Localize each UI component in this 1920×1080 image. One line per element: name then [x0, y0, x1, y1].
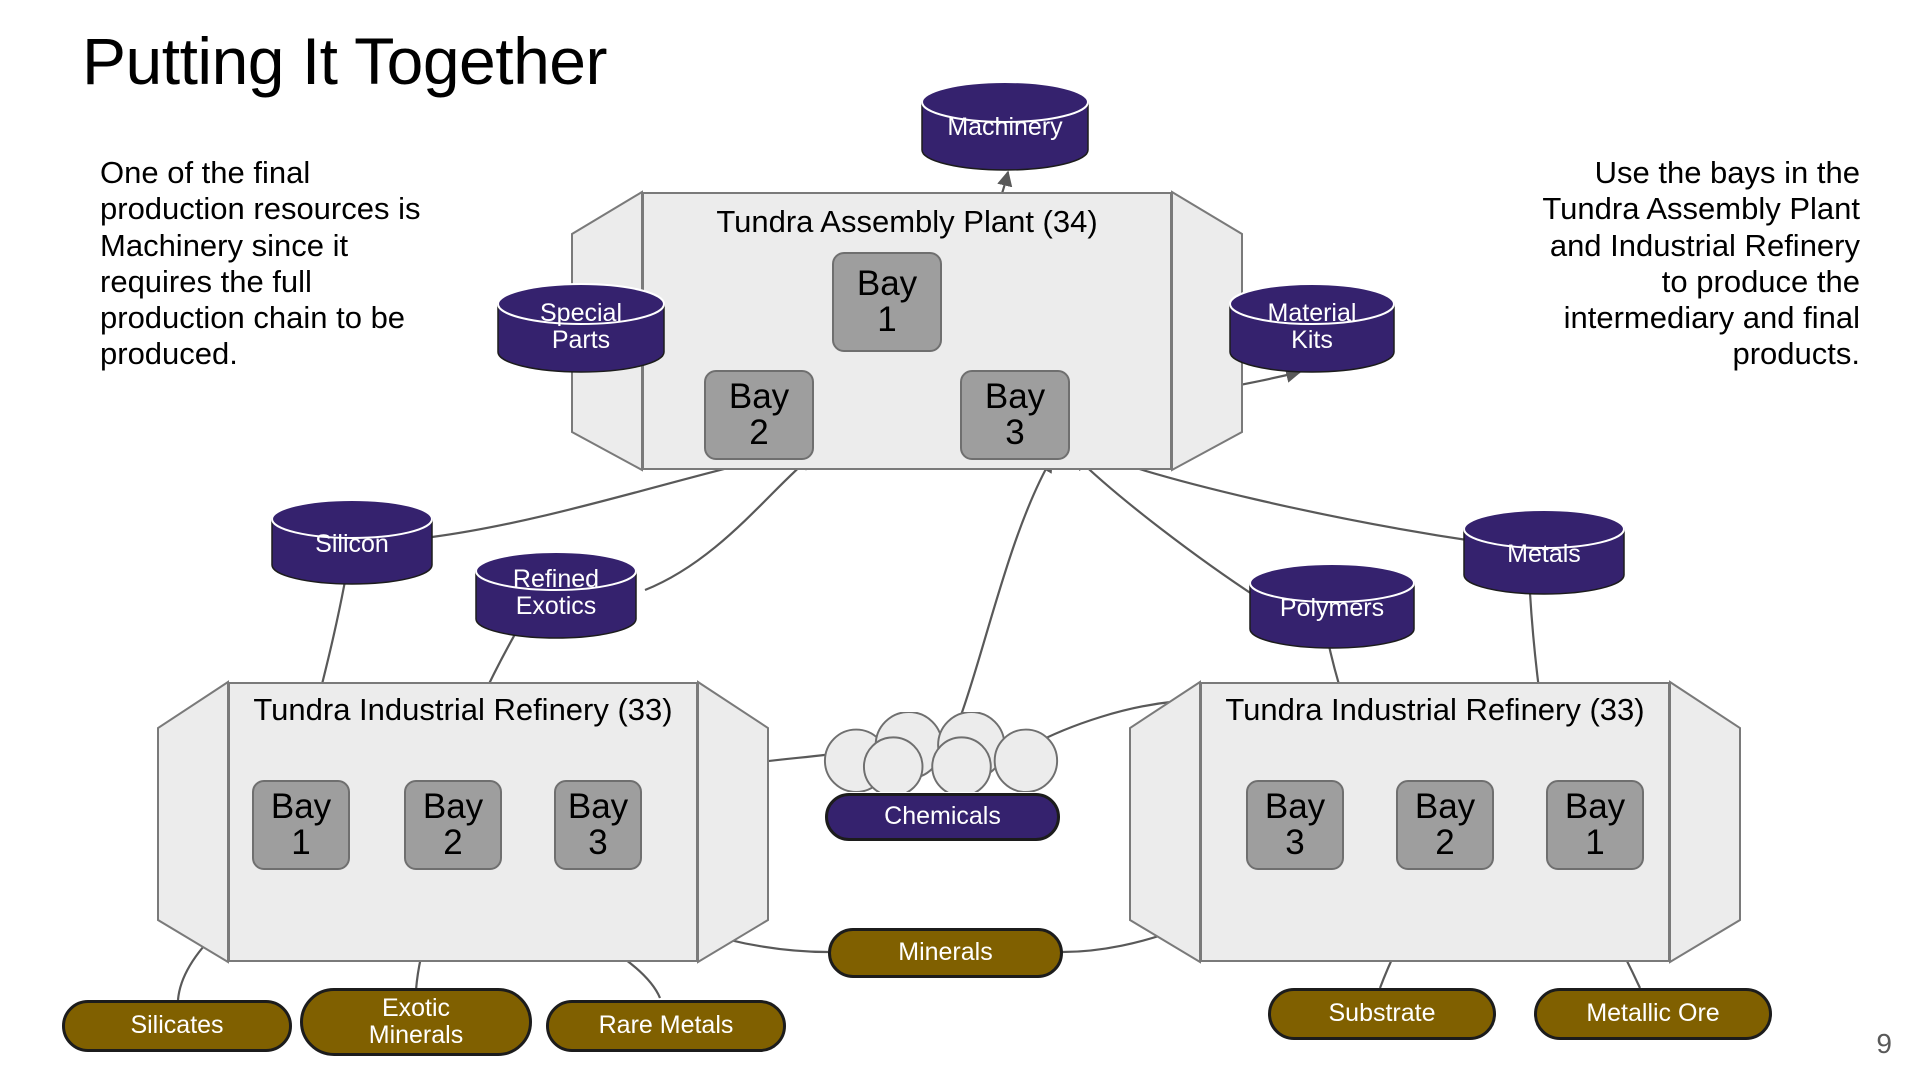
resource-label-line2: Kits: [1228, 327, 1396, 354]
raw-exotic-minerals[interactable]: Exotic Minerals: [300, 988, 532, 1056]
resource-label-line1: Refined: [474, 566, 638, 593]
bay-label-line1: Bay: [1565, 789, 1625, 825]
resource-silicon[interactable]: Silicon: [270, 498, 434, 586]
bay-label-line2: 3: [1285, 825, 1304, 861]
gas-cloud-icon: [812, 712, 1072, 792]
raw-metallic-ore[interactable]: Metallic Ore: [1534, 988, 1772, 1040]
assembly-plant-bay-3[interactable]: Bay 3: [960, 370, 1070, 460]
resource-label: Metals: [1462, 541, 1626, 568]
resource-special-parts[interactable]: Special Parts: [496, 282, 666, 374]
bay-label-line2: 1: [1585, 825, 1604, 861]
bay-label-line1: Bay: [857, 266, 917, 302]
refinery-right-bay-3[interactable]: Bay 3: [1246, 780, 1344, 870]
refinery-right-bay-2[interactable]: Bay 2: [1396, 780, 1494, 870]
bay-label-line1: Bay: [985, 379, 1045, 415]
resource-refined-exotics[interactable]: Refined Exotics: [474, 550, 638, 640]
bay-label-line1: Bay: [423, 789, 483, 825]
resource-label: Polymers: [1248, 595, 1416, 622]
resource-label: Machinery: [920, 114, 1090, 141]
assembly-plant-bay-2[interactable]: Bay 2: [704, 370, 814, 460]
bay-label-line1: Bay: [729, 379, 789, 415]
bay-label-line1: Bay: [568, 789, 628, 825]
bay-label-line1: Bay: [1415, 789, 1475, 825]
bay-label-line2: 1: [877, 302, 896, 338]
raw-label-line2: Minerals: [369, 1022, 463, 1050]
resource-chemicals[interactable]: Chemicals: [825, 793, 1060, 841]
resource-material-kits[interactable]: Material Kits: [1228, 282, 1396, 374]
bay-label-line2: 3: [1005, 415, 1024, 451]
bay-label-line2: 2: [749, 415, 768, 451]
resource-label-line2: Parts: [496, 327, 666, 354]
refinery-right-title: Tundra Industrial Refinery (33): [1200, 692, 1670, 728]
resource-metals[interactable]: Metals: [1462, 508, 1626, 596]
assembly-plant-bay-1[interactable]: Bay 1: [832, 252, 942, 352]
bay-label-line1: Bay: [271, 789, 331, 825]
raw-label-line1: Exotic: [382, 995, 450, 1023]
raw-minerals[interactable]: Minerals: [828, 928, 1063, 978]
resource-label: Silicon: [270, 531, 434, 558]
resource-machinery[interactable]: Machinery: [920, 80, 1090, 172]
slide-canvas: Putting It Together One of the final pro…: [0, 0, 1920, 1080]
refinery-left-bay-1[interactable]: Bay 1: [252, 780, 350, 870]
raw-silicates[interactable]: Silicates: [62, 1000, 292, 1052]
facility-refinery-right[interactable]: Tundra Industrial Refinery (33) Bay 3 Ba…: [1200, 682, 1670, 962]
refinery-left-bay-2[interactable]: Bay 2: [404, 780, 502, 870]
raw-substrate[interactable]: Substrate: [1268, 988, 1496, 1040]
page-number: 9: [1876, 1028, 1892, 1060]
raw-label: Rare Metals: [599, 1012, 734, 1040]
bay-label-line1: Bay: [1265, 789, 1325, 825]
resource-polymers[interactable]: Polymers: [1248, 562, 1416, 650]
facility-refinery-left[interactable]: Tundra Industrial Refinery (33) Bay 1 Ba…: [228, 682, 698, 962]
refinery-right-bay-1[interactable]: Bay 1: [1546, 780, 1644, 870]
bay-label-line2: 2: [1435, 825, 1454, 861]
facility-tundra-assembly-plant[interactable]: Tundra Assembly Plant (34) Bay 1 Bay 2 B…: [642, 192, 1172, 470]
raw-label: Silicates: [130, 1012, 223, 1040]
refinery-left-title: Tundra Industrial Refinery (33): [228, 692, 698, 728]
raw-label: Metallic Ore: [1586, 1000, 1719, 1028]
raw-label: Minerals: [898, 939, 992, 967]
resource-label: Chemicals: [884, 803, 1001, 831]
resource-label-line1: Material: [1228, 300, 1396, 327]
bay-label-line2: 2: [443, 825, 462, 861]
refinery-left-bay-3[interactable]: Bay 3: [554, 780, 642, 870]
raw-rare-metals[interactable]: Rare Metals: [546, 1000, 786, 1052]
resource-label-line1: Special: [496, 300, 666, 327]
resource-label-line2: Exotics: [474, 593, 638, 620]
bay-label-line2: 3: [588, 825, 607, 861]
assembly-plant-title: Tundra Assembly Plant (34): [642, 204, 1172, 240]
bay-label-line2: 1: [291, 825, 310, 861]
raw-label: Substrate: [1328, 1000, 1435, 1028]
